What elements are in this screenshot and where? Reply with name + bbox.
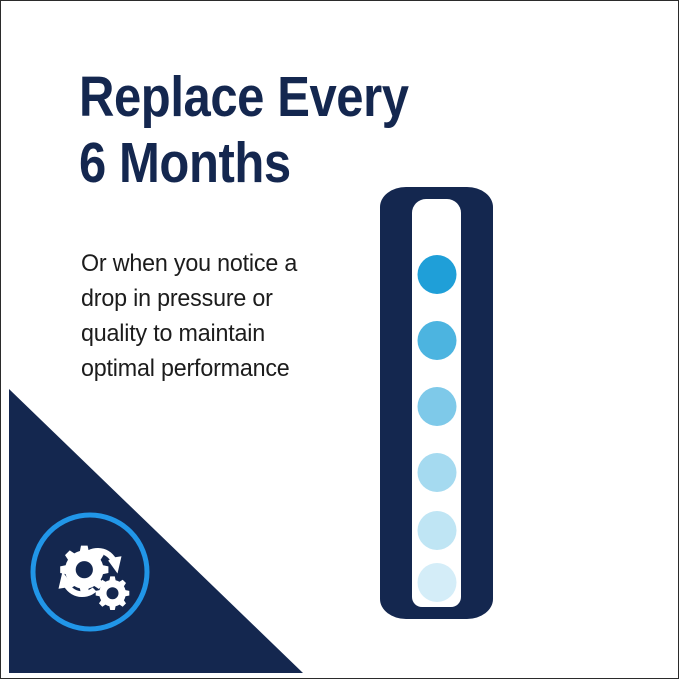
filter-dot-1	[417, 255, 456, 294]
subtitle-line-4: optimal performance	[81, 351, 357, 386]
subtitle-line-2: drop in pressure or	[81, 281, 357, 316]
gears-refresh-icon	[59, 546, 130, 610]
page-title: Replace Every 6 Months	[79, 64, 423, 196]
filter-dot-3	[417, 387, 456, 426]
replacement-cycle-badge	[25, 507, 155, 637]
subtitle-line-1: Or when you notice a	[81, 246, 357, 281]
infographic-card: Replace Every 6 Months Or when you notic…	[0, 0, 679, 679]
filter-dot-6	[417, 563, 456, 602]
filter-dot-5	[417, 511, 456, 550]
subtitle-line-3: quality to maintain	[81, 316, 357, 351]
filter-dot-2	[417, 321, 456, 360]
subtitle-text: Or when you notice a drop in pressure or…	[81, 246, 357, 386]
water-filter-cartridge	[380, 187, 493, 619]
filter-dot-stack	[412, 199, 461, 607]
headline-line-1: Replace Every	[79, 64, 423, 130]
headline-line-2: 6 Months	[79, 130, 423, 196]
filter-dot-4	[417, 453, 456, 492]
cartridge-window	[412, 199, 461, 607]
